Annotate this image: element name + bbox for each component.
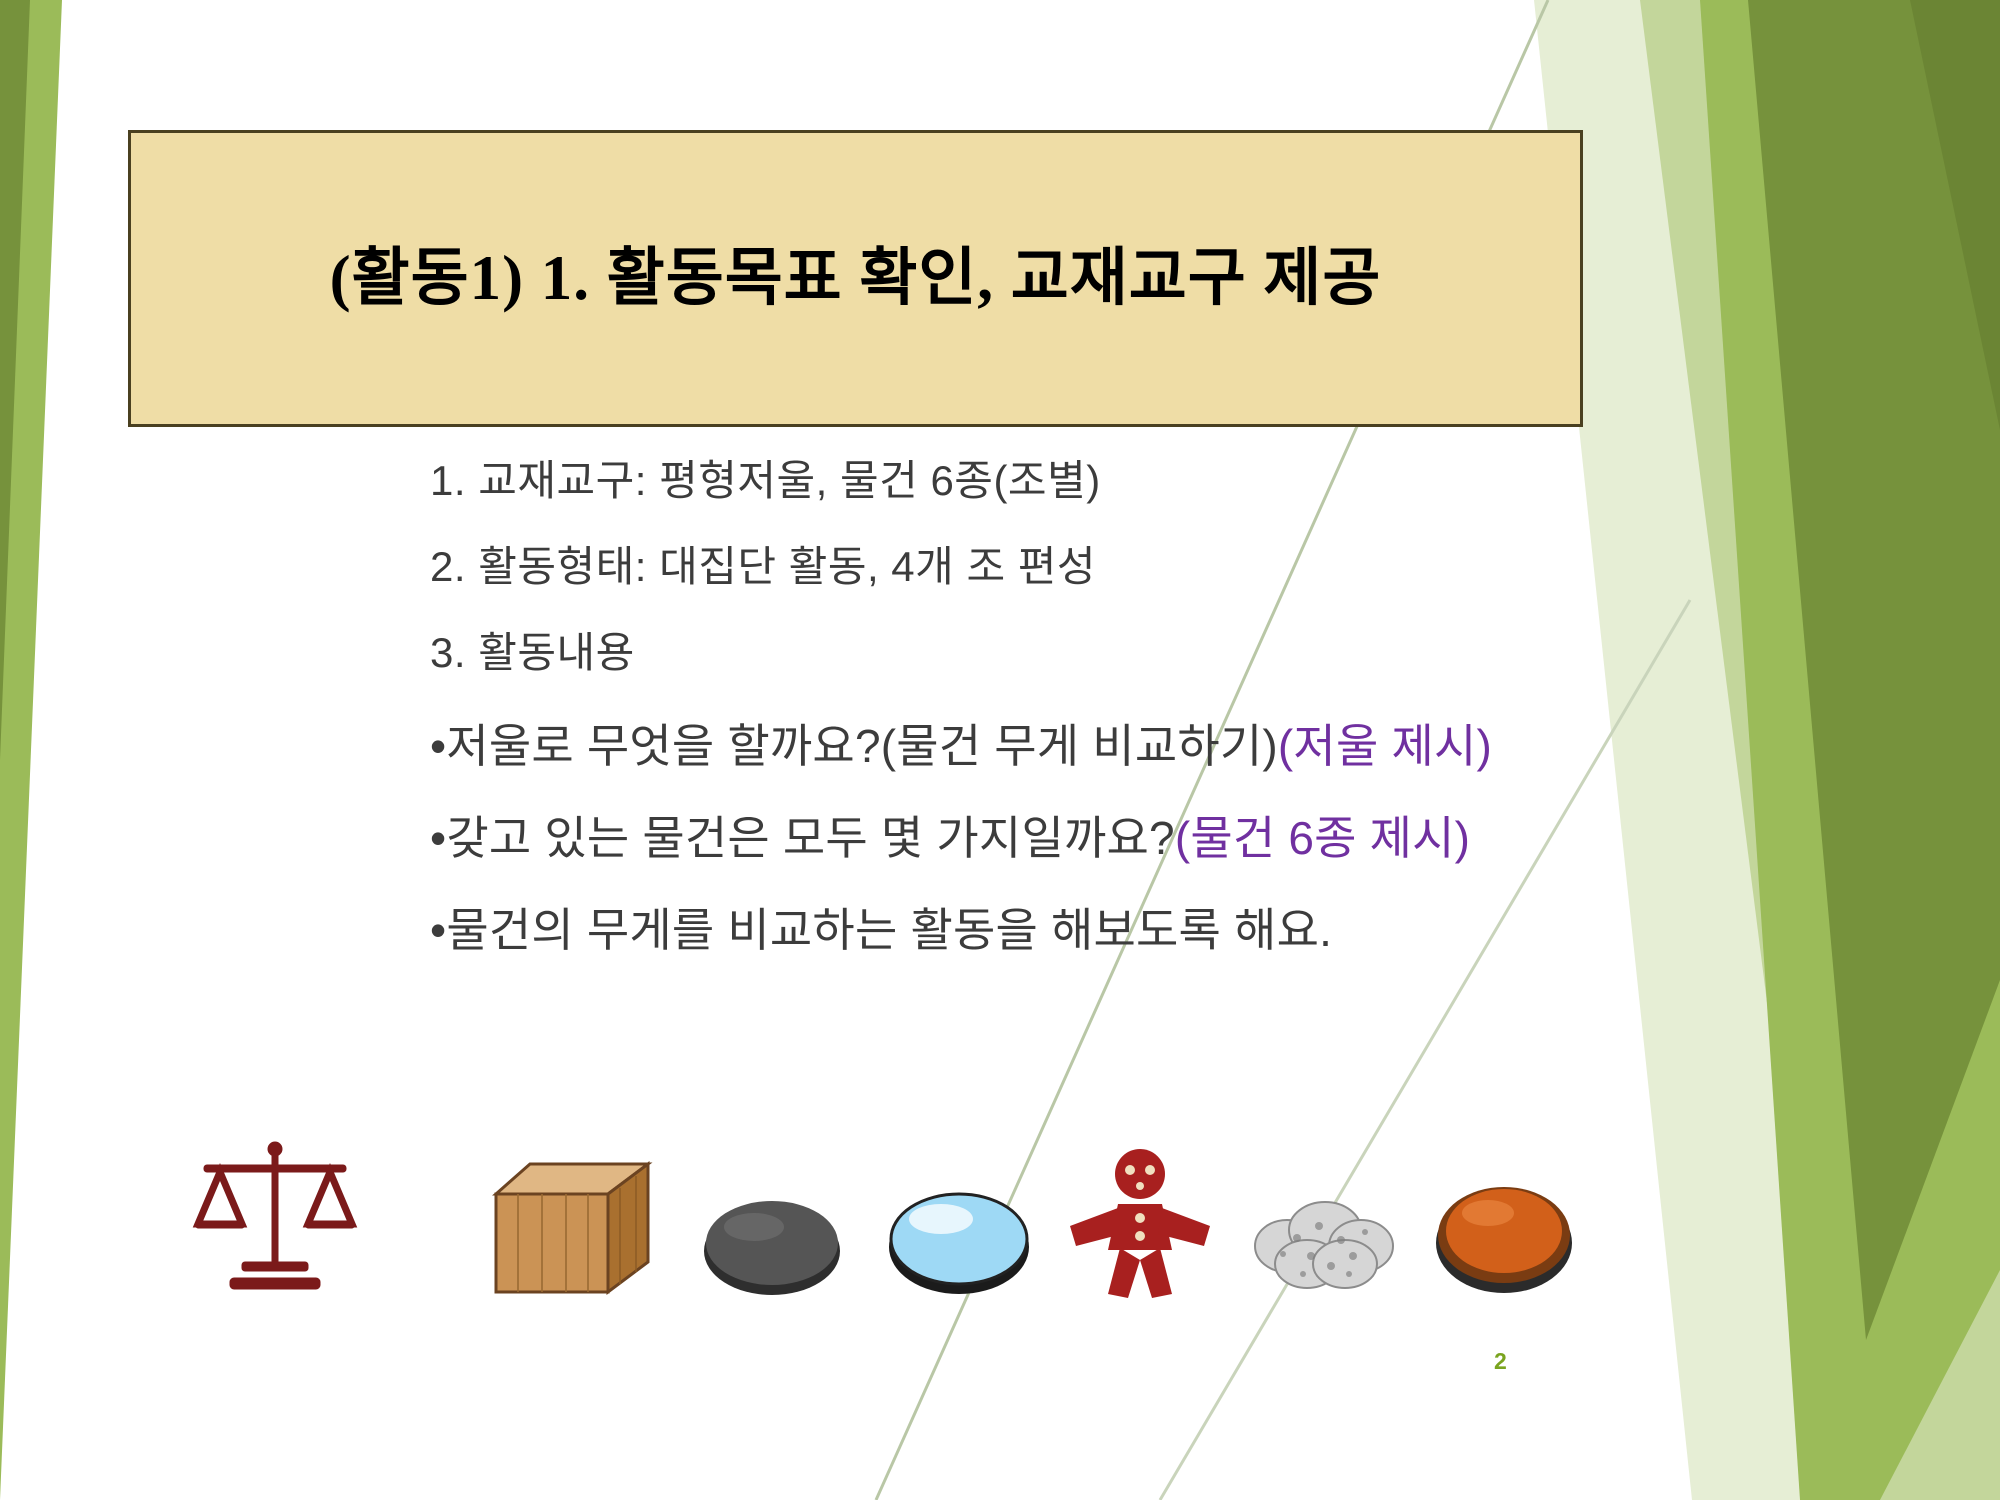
numbered-item-3: 3. 활동내용 <box>430 632 1590 674</box>
bullet-item-2: •갖고 있는 물건은 모두 몇 가지일까요?(물건 6종 제시) <box>430 810 1590 866</box>
right-green-darkest <box>1910 0 2000 430</box>
left-green-shape <box>0 0 62 1500</box>
left-green-shape-dark <box>0 0 30 760</box>
bullet-2-highlight: (물건 6종 제시) <box>1175 812 1470 864</box>
object-illustration-row <box>180 1128 1610 1298</box>
dark-stone-icon <box>700 1193 845 1298</box>
wooden-block-icon <box>490 1158 655 1298</box>
bullet-dot-icon: • <box>430 812 446 864</box>
right-green-dark <box>1748 0 2000 1340</box>
slide-body: 1. 교재교구: 평형저울, 물건 6종(조별) 2. 활동형태: 대집단 활동… <box>430 460 1590 958</box>
bullet-3-main: 물건의 무게를 비교하는 활동을 해보도록 해요. <box>446 904 1332 956</box>
bullet-item-3: •물건의 무게를 비교하는 활동을 해보도록 해요. <box>430 902 1590 958</box>
bullet-2-main: 갖고 있는 물건은 모두 몇 가지일까요? <box>446 812 1175 864</box>
page-number: 2 <box>1494 1348 1507 1375</box>
balance-scale-icon <box>190 1138 360 1298</box>
bullet-1-highlight: (저울 제시) <box>1278 720 1492 772</box>
bullet-dot-icon: • <box>430 720 446 772</box>
right-green-mid <box>1700 0 2000 1500</box>
blue-ball-icon <box>885 1183 1035 1298</box>
numbered-item-2: 2. 활동형태: 대집단 활동, 4개 조 편성 <box>430 546 1590 588</box>
bullet-1-main: 저울로 무엇을 할까요?(물건 무게 비교하기) <box>446 720 1278 772</box>
numbered-item-1: 1. 교재교구: 평형저울, 물건 6종(조별) <box>430 460 1590 502</box>
cotton-puff-icon <box>1245 1188 1405 1298</box>
gingerbread-man-icon <box>1060 1148 1220 1298</box>
bullet-item-1: •저울로 무엇을 할까요?(물건 무게 비교하기)(저울 제시) <box>430 718 1590 774</box>
page-title: (활동1) 1. 활동목표 확인, 교재교구 제공 <box>131 238 1580 319</box>
presentation-slide: (활동1) 1. 활동목표 확인, 교재교구 제공 1. 교재교구: 평형저울,… <box>0 0 2000 1500</box>
bullet-dot-icon: • <box>430 904 446 956</box>
slide-title-box: (활동1) 1. 활동목표 확인, 교재교구 제공 <box>128 130 1583 427</box>
right-green-light <box>1640 0 2000 1500</box>
orange-disc-icon <box>1430 1173 1580 1298</box>
